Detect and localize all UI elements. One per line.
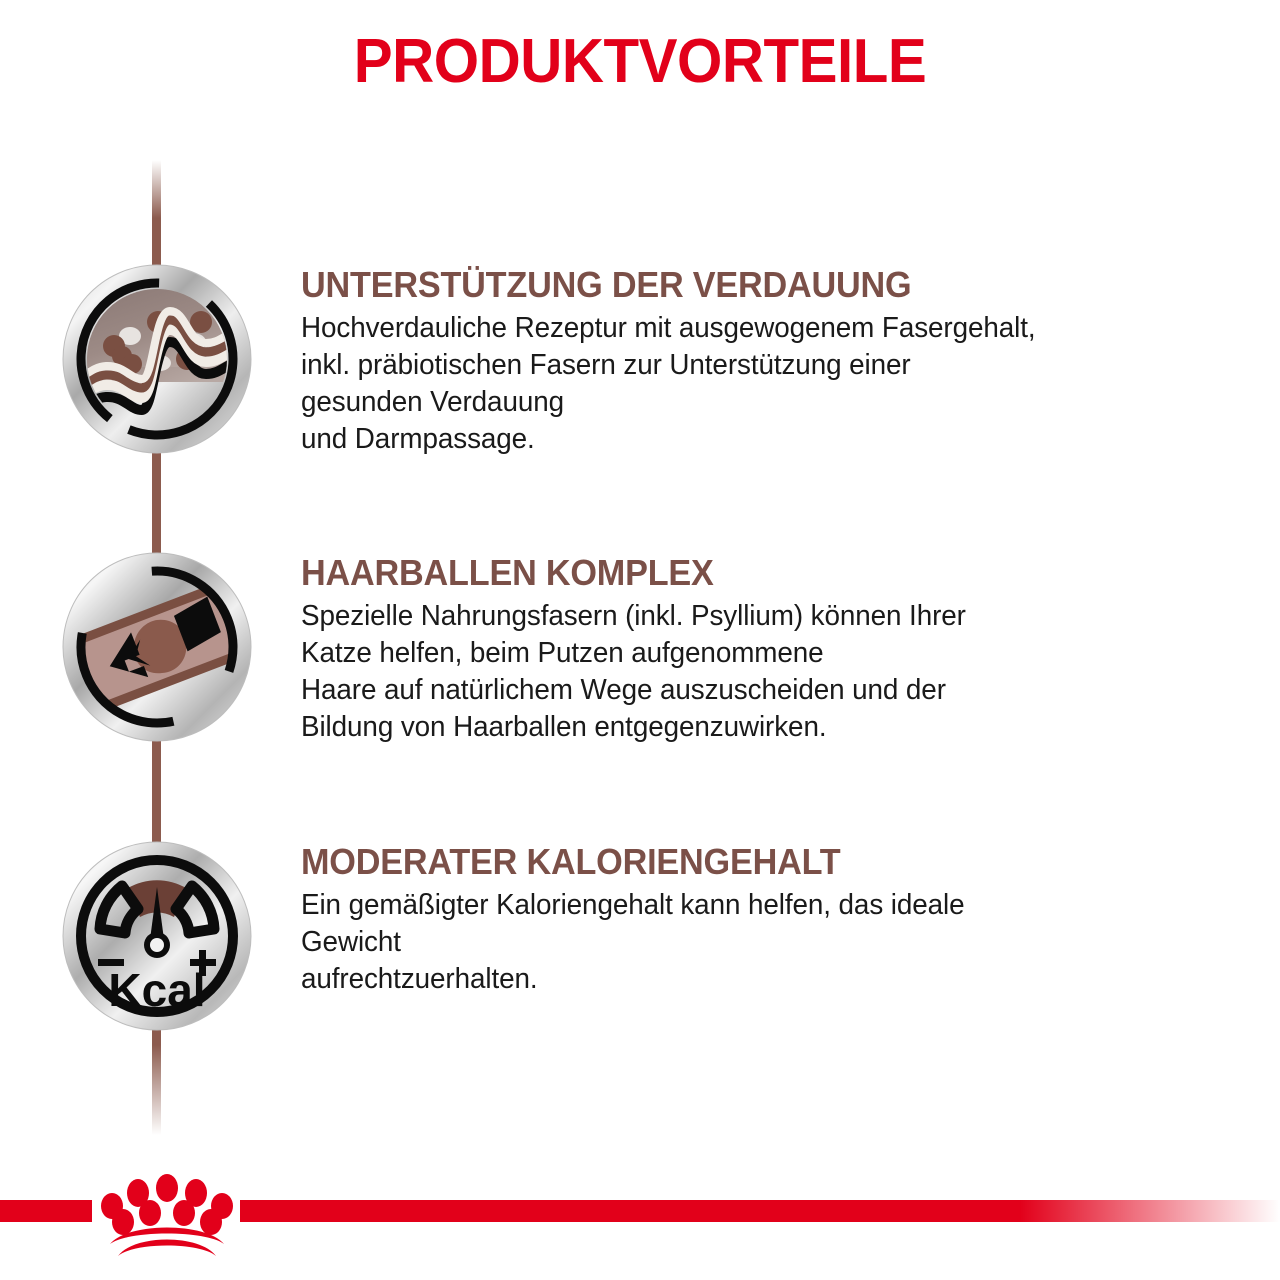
page-title: PRODUKTVORTEILE: [38, 26, 1241, 98]
benefit-body: Spezielle Nahrungsfasern (inkl. Psyllium…: [301, 598, 1203, 746]
kcal-gauge-icon: Kcal: [62, 841, 252, 1031]
footer-bar-left: [0, 1200, 92, 1222]
benefit-body: Hochverdauliche Rezeptur mit ausgewogene…: [301, 310, 1203, 458]
benefit-heading: MODERATER KALORIENGEHALT: [301, 841, 1194, 883]
benefit-text-block: UNTERSTÜTZUNG DER VERDAUUNG Hochverdauli…: [301, 264, 1241, 458]
footer-bar-right: [240, 1200, 1280, 1222]
benefit-body: Ein gemäßigter Kaloriengehalt kann helfe…: [301, 887, 1203, 998]
kcal-label: Kcal: [108, 964, 205, 1016]
benefit-text-block: MODERATER KALORIENGEHALT Ein gemäßigter …: [301, 841, 1241, 998]
footer: [0, 1150, 1280, 1280]
hairball-complex-icon: [62, 552, 252, 742]
benefit-heading: UNTERSTÜTZUNG DER VERDAUUNG: [301, 264, 1194, 306]
digestion-icon: [62, 264, 252, 454]
benefit-heading: HAARBALLEN KOMPLEX: [301, 552, 1194, 594]
benefit-text-block: HAARBALLEN KOMPLEX Spezielle Nahrungsfas…: [301, 552, 1241, 746]
royal-canin-crown-logo: [92, 1166, 242, 1262]
